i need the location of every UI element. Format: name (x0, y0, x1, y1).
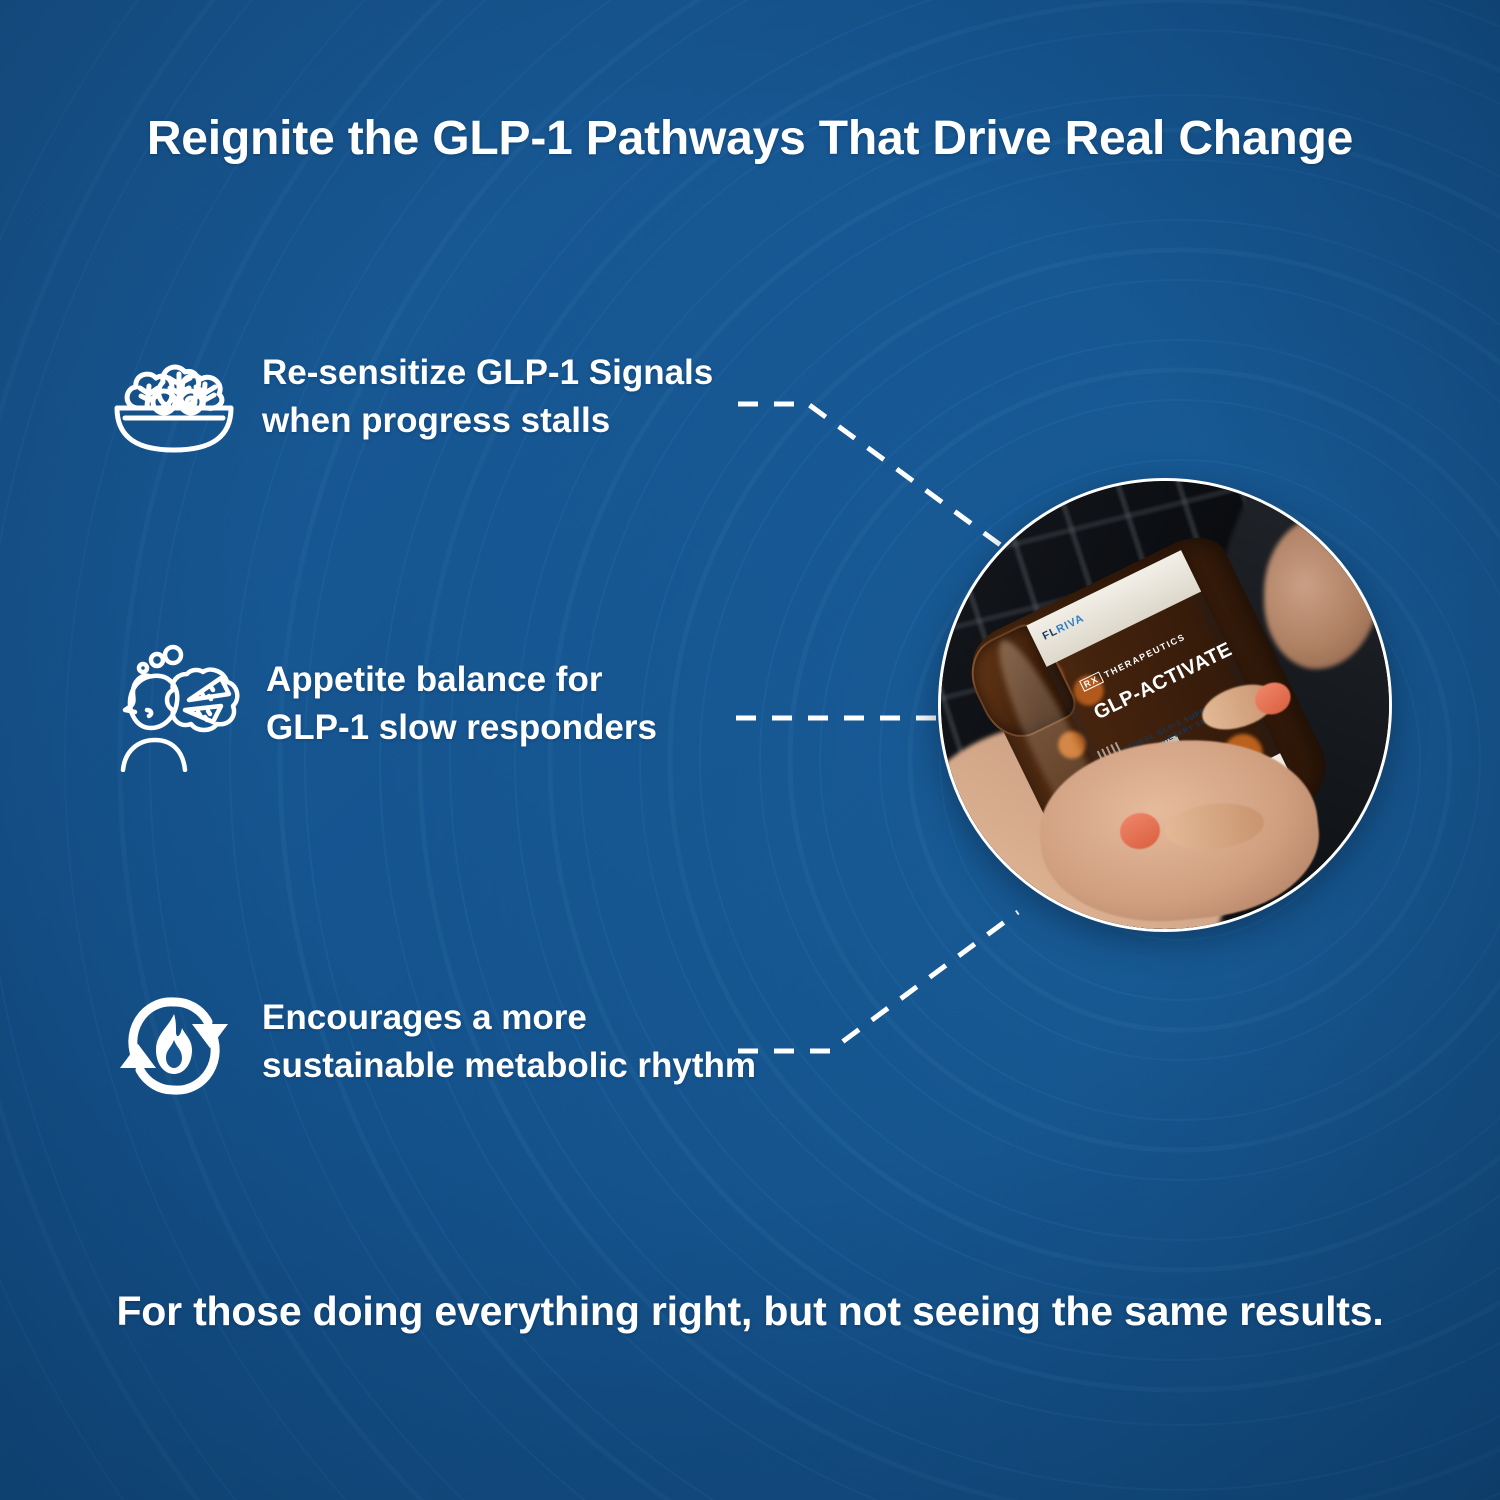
feature-label-2: Appetite balance for GLP-1 slow responde… (266, 650, 657, 753)
feature-label-3: Encourages a more sustainable metabolic … (262, 988, 756, 1091)
infographic-canvas: Reignite the GLP-1 Pathways That Drive R… (0, 0, 1500, 1500)
metabolism-flame-cycle-icon (108, 988, 240, 1104)
food-craving-thought-icon (112, 650, 244, 766)
page-title: Reignite the GLP-1 Pathways That Drive R… (0, 112, 1500, 166)
feature-item-metabolic: Encourages a more sustainable metabolic … (108, 988, 756, 1104)
feature-label-1: Re-sensitize GLP-1 Signals when progress… (262, 343, 713, 446)
feature-item-appetite: Appetite balance for GLP-1 slow responde… (112, 650, 657, 766)
salad-bowl-icon (108, 343, 240, 459)
product-photo-circle: FLRIVA RXTHERAPEUTICS GLP-ACTIVATE NATUR… (938, 478, 1392, 932)
feature-item-resensitize: Re-sensitize GLP-1 Signals when progress… (108, 343, 713, 459)
footer-tagline: For those doing everything right, but no… (0, 1288, 1500, 1335)
